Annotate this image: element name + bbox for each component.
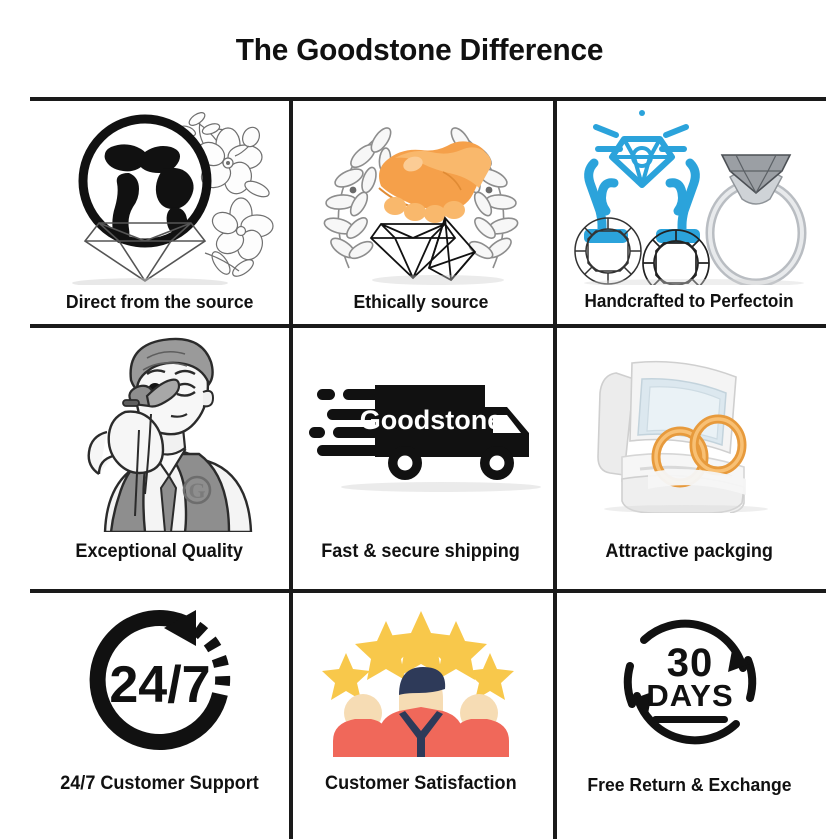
feature-caption: 24/7 Customer Support: [60, 774, 259, 839]
ring-box-icon: [553, 324, 826, 542]
truck-label: Goodstone: [360, 405, 503, 435]
feature-cell-fast-secure-shipping[interactable]: Goodstone Fast & secure shipping: [289, 324, 553, 589]
infographic-page: The Goodstone Difference: [0, 0, 839, 839]
vest-badge-letter: G: [188, 478, 205, 503]
feature-caption: Exceptional Quality: [76, 542, 244, 589]
page-title: The Goodstone Difference: [17, 32, 822, 68]
clock-arrow-247-icon: 24/7: [30, 589, 289, 774]
icon-text-247: 24/7: [109, 656, 210, 714]
globe-flowers-diamond-icon: [30, 97, 289, 292]
hands-holding-gem-ring-icon: [553, 97, 826, 292]
delivery-truck-icon: Goodstone: [289, 324, 553, 542]
feature-cell-free-return-exchange[interactable]: 30 DAYS Free Return & Exchange: [553, 589, 826, 839]
feature-grid: Direct from the source: [30, 97, 826, 839]
feature-cell-ethically-source[interactable]: Ethically source: [289, 97, 553, 324]
feature-caption: Fast & secure shipping: [322, 542, 521, 589]
feature-cell-handcrafted-to-perfection[interactable]: Handcrafted to Perfectoin: [553, 97, 826, 324]
feature-caption: Ethically source: [354, 292, 489, 324]
feature-caption: Attractive packging: [606, 542, 774, 589]
handshake-laurel-diamonds-icon: [289, 97, 553, 292]
feature-caption: Customer Satisfaction: [325, 774, 517, 839]
feature-cell-exceptional-quality[interactable]: G Exceptional Quality: [30, 324, 289, 589]
thirty-days-return-icon: 30 DAYS: [553, 589, 826, 775]
feature-cell-customer-satisfaction[interactable]: Customer Satisfaction: [289, 589, 553, 839]
jeweler-loupe-icon: G: [30, 324, 289, 542]
feature-caption: Free Return & Exchange: [587, 775, 791, 839]
feature-cell-direct-from-the-source[interactable]: Direct from the source: [30, 97, 289, 324]
feature-cell-attractive-packaging[interactable]: Attractive packging: [553, 324, 826, 589]
feature-caption: Handcrafted to Perfectoin: [585, 292, 794, 324]
feature-cell-customer-support[interactable]: 24/7 24/7 Customer Support: [30, 589, 289, 839]
feature-caption: Direct from the source: [66, 292, 254, 324]
five-star-people-icon: [289, 589, 553, 774]
icon-text-days: DAYS: [646, 678, 733, 713]
